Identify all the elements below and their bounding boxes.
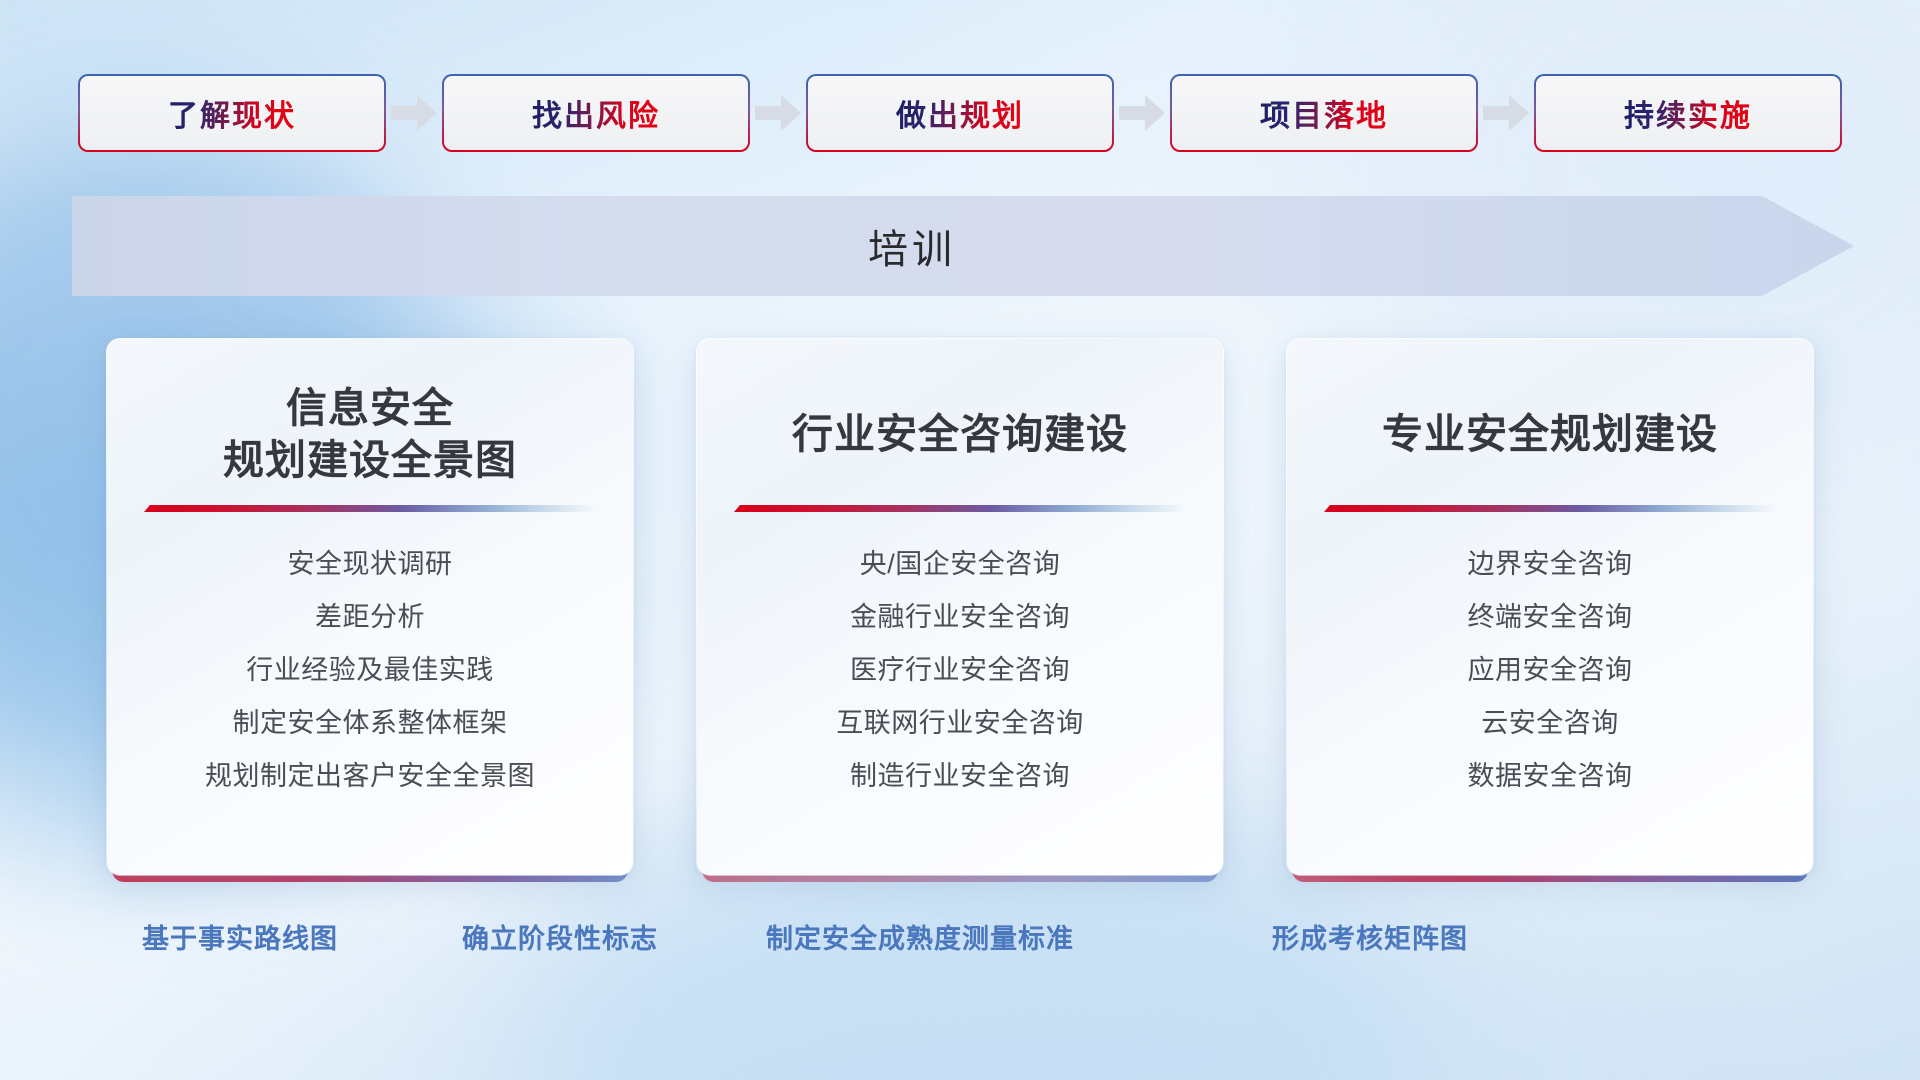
outcome-caption-2: 确立阶段性标志: [400, 908, 720, 964]
service-card-1-title-line2: 规划建设全景图: [223, 437, 517, 483]
step-separator-arrow-2: [750, 74, 806, 152]
service-card-1-list: 安全现状调研 差距分析 行业经验及最佳实践 制定安全体系整体框架 规划制定出客户…: [137, 538, 603, 803]
list-item: 终端安全咨询: [1468, 591, 1633, 644]
step-label-1: 了解现状: [168, 91, 296, 135]
service-card-1-inner: 信息安全 规划建设全景图 安全现状调研 差距分析 行业经验及最佳实践 制定安全体…: [107, 339, 633, 875]
step-box-2-inner: 找出风险: [444, 76, 748, 150]
outcome-caption-3: 制定安全成熟度测量标准: [720, 908, 1120, 964]
step-separator-arrow-4: [1478, 74, 1534, 152]
service-card-2-title: 行业安全咨询建设: [792, 381, 1128, 487]
outcome-caption-1: 基于事实路线图: [80, 908, 400, 964]
step-box-1[interactable]: 了解现状: [78, 74, 386, 152]
service-card-1-title: 信息安全 规划建设全景图: [223, 381, 517, 487]
service-card-1-title-line1: 信息安全: [286, 385, 454, 431]
step-box-1-inner: 了解现状: [80, 76, 384, 150]
service-card-2-list: 央/国企安全咨询 金融行业安全咨询 医疗行业安全咨询 互联网行业安全咨询 制造行…: [727, 538, 1193, 803]
service-card-2-inner: 行业安全咨询建设 央/国企安全咨询 金融行业安全咨询 医疗行业安全咨询 互联网行…: [697, 339, 1223, 875]
list-item: 金融行业安全咨询: [850, 591, 1070, 644]
service-card-3-title: 专业安全规划建设: [1382, 381, 1718, 487]
step-label-5: 持续实施: [1624, 91, 1752, 135]
service-card-3-list: 边界安全咨询 终端安全咨询 应用安全咨询 云安全咨询 数据安全咨询: [1317, 538, 1783, 803]
list-item: 规划制定出客户安全全景图: [205, 750, 535, 803]
list-item: 数据安全咨询: [1468, 750, 1633, 803]
outcome-caption-group: 基于事实路线图 确立阶段性标志 制定安全成熟度测量标准 形成考核矩阵图: [0, 908, 1920, 964]
list-item: 制造行业安全咨询: [850, 750, 1070, 803]
process-step-flow: 了解现状 找出风险 做出规划 项目落地: [0, 72, 1920, 154]
step-box-2[interactable]: 找出风险: [442, 74, 750, 152]
service-card-1[interactable]: 信息安全 规划建设全景图 安全现状调研 差距分析 行业经验及最佳实践 制定安全体…: [106, 338, 634, 876]
list-item: 差距分析: [315, 591, 425, 644]
list-item: 应用安全咨询: [1468, 644, 1633, 697]
step-box-3-inner: 做出规划: [808, 76, 1112, 150]
step-label-4: 项目落地: [1260, 91, 1388, 135]
step-label-2: 找出风险: [532, 91, 660, 135]
training-banner-label: 培训: [72, 196, 1752, 296]
step-separator-arrow-1: [386, 74, 442, 152]
step-separator-arrow-3: [1114, 74, 1170, 152]
service-card-3-inner: 专业安全规划建设 边界安全咨询 终端安全咨询 应用安全咨询 云安全咨询 数据安全…: [1287, 339, 1813, 875]
list-item: 央/国企安全咨询: [860, 538, 1061, 591]
service-card-group: 信息安全 规划建设全景图 安全现状调研 差距分析 行业经验及最佳实践 制定安全体…: [0, 338, 1920, 878]
step-box-4-inner: 项目落地: [1172, 76, 1476, 150]
step-box-3[interactable]: 做出规划: [806, 74, 1114, 152]
list-item: 行业经验及最佳实践: [246, 644, 494, 697]
list-item: 边界安全咨询: [1468, 538, 1633, 591]
service-card-1-divider: [144, 505, 596, 512]
list-item: 互联网行业安全咨询: [836, 697, 1084, 750]
step-box-5[interactable]: 持续实施: [1534, 74, 1842, 152]
step-label-3: 做出规划: [896, 91, 1024, 135]
list-item: 安全现状调研: [288, 538, 453, 591]
list-item: 医疗行业安全咨询: [850, 644, 1070, 697]
step-box-5-inner: 持续实施: [1536, 76, 1840, 150]
service-card-2-title-line1: 行业安全咨询建设: [792, 408, 1128, 460]
service-card-2[interactable]: 行业安全咨询建设 央/国企安全咨询 金融行业安全咨询 医疗行业安全咨询 互联网行…: [696, 338, 1224, 876]
service-card-3[interactable]: 专业安全规划建设 边界安全咨询 终端安全咨询 应用安全咨询 云安全咨询 数据安全…: [1286, 338, 1814, 876]
list-item: 云安全咨询: [1481, 697, 1619, 750]
service-card-3-title-line1: 专业安全规划建设: [1382, 408, 1718, 460]
list-item: 制定安全体系整体框架: [233, 697, 508, 750]
service-card-2-divider: [734, 505, 1186, 512]
step-box-4[interactable]: 项目落地: [1170, 74, 1478, 152]
outcome-caption-4: 形成考核矩阵图: [1180, 908, 1560, 964]
training-banner: 培训: [72, 196, 1854, 296]
service-card-3-divider: [1324, 505, 1776, 512]
